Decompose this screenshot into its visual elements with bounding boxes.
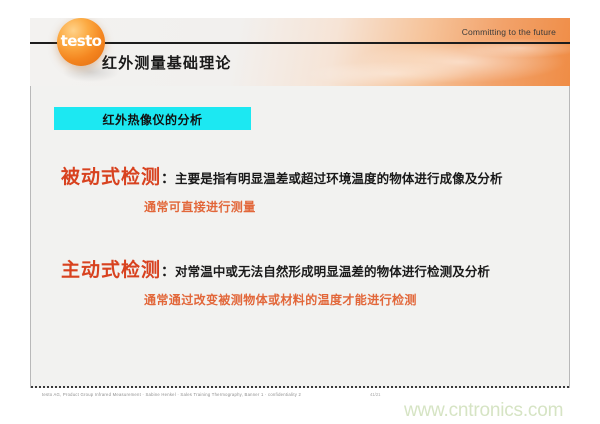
slide-title: 红外测量基础理论 bbox=[102, 52, 232, 73]
passive-colon: ： bbox=[161, 171, 175, 187]
active-note: 通常通过改变被测物体或材料的温度才能进行检测 bbox=[31, 291, 569, 308]
passive-lead-line: 被动式检测：主要是指有明显温差或超过环境温度的物体进行成像及分析 bbox=[31, 162, 569, 189]
passive-term: 被动式检测 bbox=[61, 166, 161, 188]
brand-tagline: Committing to the future bbox=[462, 27, 556, 37]
subtitle-label: 红外热像仪的分析 bbox=[54, 111, 251, 128]
footer-credit: testo AG, Product Group Infrared Measure… bbox=[42, 392, 301, 397]
active-term: 主动式检测 bbox=[61, 259, 161, 281]
header-divider-rule bbox=[30, 42, 570, 44]
active-colon: ： bbox=[161, 264, 175, 280]
testo-logo-label: testo bbox=[57, 32, 105, 50]
passive-description: 主要是指有明显温差或超过环境温度的物体进行成像及分析 bbox=[175, 171, 503, 186]
footer-page-number: 41/21 bbox=[370, 392, 380, 397]
passive-note: 通常可直接进行测量 bbox=[31, 198, 569, 215]
subtitle-highlight-box: 红外热像仪的分析 bbox=[54, 107, 251, 130]
site-watermark: www.cntronics.com bbox=[404, 400, 563, 422]
testo-logo: testo bbox=[57, 18, 105, 66]
active-lead-line: 主动式检测：对常温中或无法自然形成明显温差的物体进行检测及分析 bbox=[31, 255, 569, 282]
presentation-slide: Committing to the future testo 红外测量基础理论 … bbox=[30, 18, 570, 406]
active-description: 对常温中或无法自然形成明显温差的物体进行检测及分析 bbox=[175, 264, 490, 279]
slide-header: Committing to the future testo 红外测量基础理论 bbox=[30, 18, 570, 86]
content-block-active: 主动式检测：对常温中或无法自然形成明显温差的物体进行检测及分析 通常通过改变被测… bbox=[31, 255, 569, 308]
slide-body: 红外热像仪的分析 被动式检测：主要是指有明显温差或超过环境温度的物体进行成像及分… bbox=[30, 86, 570, 388]
content-block-passive: 被动式检测：主要是指有明显温差或超过环境温度的物体进行成像及分析 通常可直接进行… bbox=[31, 162, 569, 215]
